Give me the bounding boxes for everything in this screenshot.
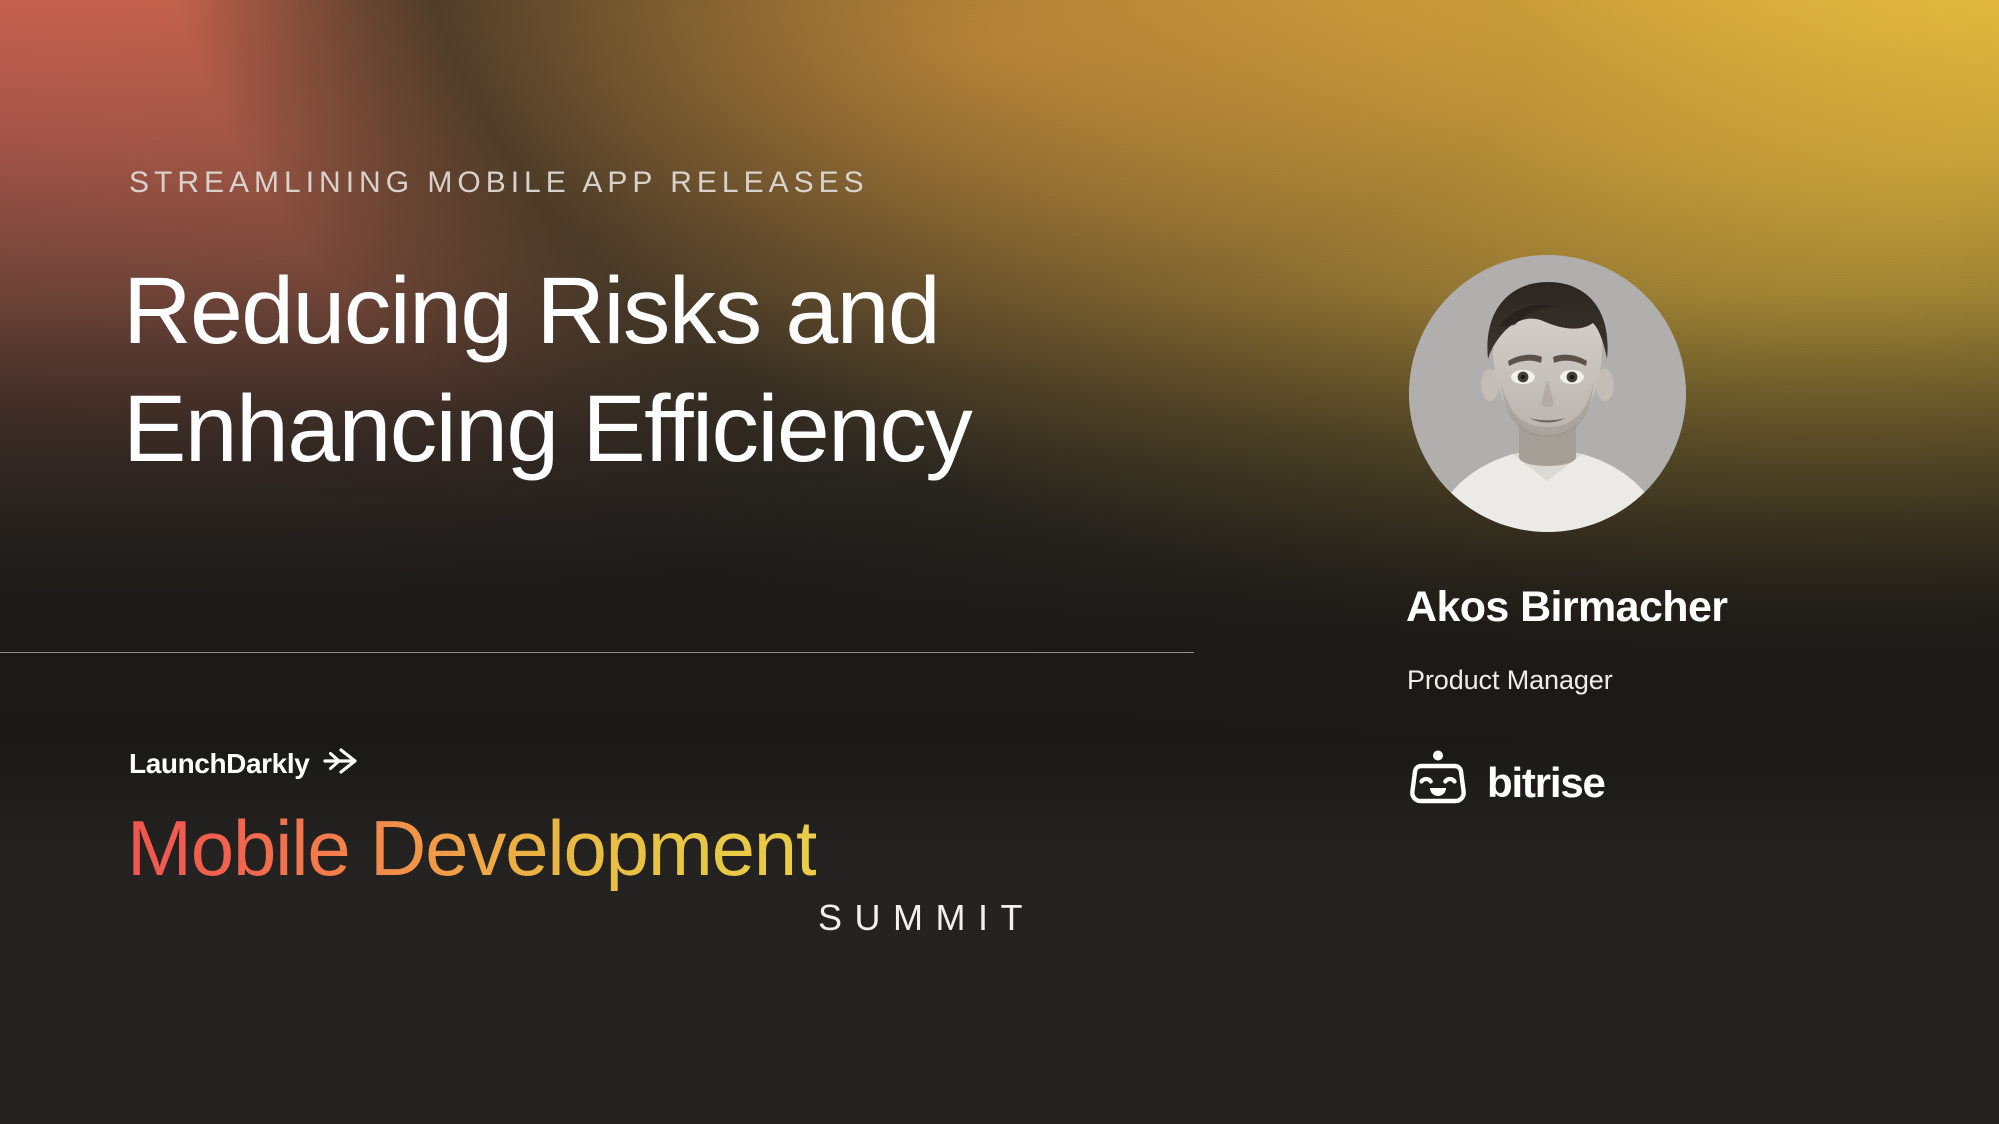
speaker-column: Akos Birmacher Product Manager bitrise	[1406, 0, 1966, 1124]
event-subtitle: SUMMIT	[129, 897, 1035, 939]
left-content-column: STREAMLINING MOBILE APP RELEASES Reducin…	[129, 0, 1229, 1124]
launchdarkly-lockup: LaunchDarkly	[129, 747, 360, 780]
session-eyebrow: STREAMLINING MOBILE APP RELEASES	[129, 166, 869, 200]
double-chevron-arrow-right-icon	[322, 747, 360, 780]
section-divider	[0, 652, 1194, 653]
session-headline: Reducing Risks and Enhancing Efficiency	[123, 252, 1303, 488]
launchdarkly-wordmark: LaunchDarkly	[129, 748, 309, 780]
bitrise-wordmark: bitrise	[1487, 762, 1605, 804]
event-title: Mobile Development	[127, 800, 816, 896]
speaker-role: Product Manager	[1407, 665, 1613, 696]
session-promo-slide: STREAMLINING MOBILE APP RELEASES Reducin…	[0, 0, 1999, 1124]
speaker-name: Akos Birmacher	[1406, 583, 1727, 632]
speaker-portrait	[1409, 255, 1686, 532]
bitrise-lockup: bitrise	[1406, 750, 1605, 815]
bitrise-robot-icon	[1406, 750, 1470, 815]
